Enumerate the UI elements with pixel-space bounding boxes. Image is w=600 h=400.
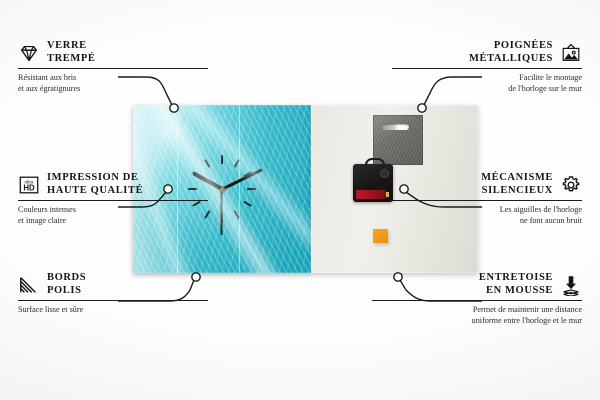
divider (392, 200, 582, 201)
infographic-stage: VERRE TREMPÉ Résistant aux bris et aux é… (0, 0, 600, 400)
feature-title-line1: BORDS (47, 272, 86, 285)
feature-desc-line2: ne font aucun bruit (392, 216, 582, 227)
feature-title-line1: MÉCANISME (481, 172, 553, 185)
second-hand (221, 189, 223, 235)
feature-title-line2: MÉTALLIQUES (469, 53, 553, 66)
feature-title-line2: POLIS (47, 285, 86, 298)
divider (18, 300, 208, 301)
feature-title-line2: EN MOUSSE (479, 285, 553, 298)
mechanism-dial (380, 169, 389, 178)
divider (372, 300, 582, 301)
feature-poignees-metalliques: POIGNÉES MÉTALLIQUES Facilite le montage… (392, 40, 582, 94)
diamond-icon (18, 42, 40, 64)
feature-desc-line1: Les aiguilles de l'horloge (392, 205, 582, 216)
divider (18, 200, 208, 201)
feature-desc-line1: Facilite le montage (392, 73, 582, 84)
svg-text:HD: HD (23, 183, 35, 192)
hanger-slot (382, 124, 409, 130)
feature-desc-line1: Surface lisse et sûre (18, 305, 208, 316)
feature-mecanisme-silencieux: MÉCANISME SILENCIEUX Les aiguilles de l'… (392, 172, 582, 226)
minute-hand (221, 168, 262, 190)
feature-desc-line2: de l'horloge sur le mur (392, 84, 582, 95)
feature-entretoise-en-mousse: ENTRETOISE EN MOUSSE Permet de maintenir… (372, 272, 582, 326)
divider (392, 68, 582, 69)
feature-title-line1: VERRE (47, 40, 96, 53)
battery (356, 190, 386, 199)
feature-desc-line1: Résistant aux bris (18, 73, 208, 84)
feature-desc-line2: et image claire (18, 216, 208, 227)
feature-desc-line1: Permet de maintenir une distance (372, 305, 582, 316)
gear-icon (560, 174, 582, 196)
mechanism-hook (365, 158, 385, 169)
feature-title-line2: SILENCIEUX (481, 185, 553, 198)
feature-title-line1: POIGNÉES (469, 40, 553, 53)
feature-bords-polis: BORDS POLIS Surface lisse et sûre (18, 272, 208, 316)
feature-desc-line2: uniforme entre l'horloge et le mur (372, 316, 582, 327)
picture-frame-icon (560, 42, 582, 64)
clock-center-pin (220, 187, 225, 192)
ultra-hd-icon: ultra HD (18, 174, 40, 196)
feature-title-line2: HAUTE QUALITÉ (47, 185, 143, 198)
feature-title-line2: TREMPÉ (47, 53, 96, 66)
feature-title-line1: IMPRESSION DE (47, 172, 143, 185)
divider (18, 68, 208, 69)
arrow-down-pad-icon (560, 274, 582, 296)
feature-desc-line1: Couleurs intenses (18, 205, 208, 216)
hatch-lines-icon (18, 274, 40, 296)
feature-desc-line2: et aux égratignures (18, 84, 208, 95)
feature-verre-trempe: VERRE TREMPÉ Résistant aux bris et aux é… (18, 40, 208, 94)
clock-mechanism (353, 164, 393, 202)
feature-impression-haute-qualite: ultra HD IMPRESSION DE HAUTE QUALITÉ Cou… (18, 172, 208, 226)
foam-spacer (373, 229, 388, 243)
feature-title-line1: ENTRETOISE (479, 272, 553, 285)
